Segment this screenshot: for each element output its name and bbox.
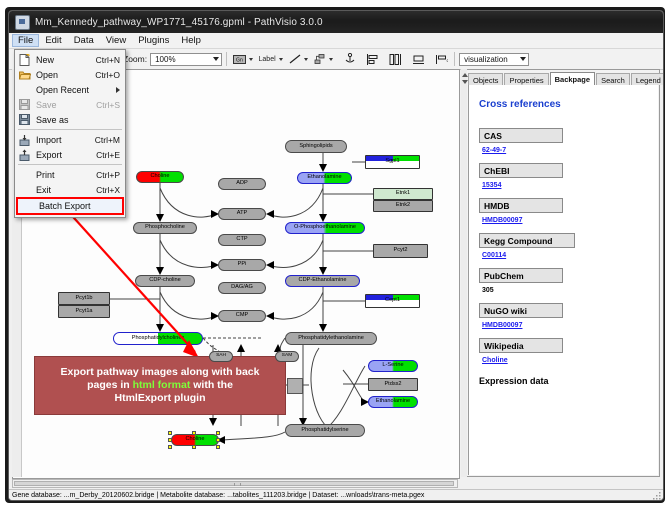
selection-handle-ne[interactable] <box>216 431 220 435</box>
svg-text:o: o <box>447 58 449 63</box>
align-middle-icon[interactable] <box>411 52 426 66</box>
node-phosphatidylserine[interactable]: Phosphatidylserine <box>285 424 365 437</box>
status-text: Gene database: ...m_Derby_20120602.bridg… <box>9 492 424 499</box>
node-sgpl1[interactable]: Sgpl1 <box>365 155 420 169</box>
node-pcyt1b[interactable]: Pcyt1b <box>58 292 110 305</box>
selection-handle-sw[interactable] <box>168 445 172 449</box>
new-file-icon <box>17 53 32 66</box>
app-icon <box>15 15 30 30</box>
label-chevron-icon[interactable] <box>279 58 283 61</box>
selection-handle-se[interactable] <box>216 445 220 449</box>
folder-open-icon <box>17 68 32 81</box>
node-cept1[interactable]: Cept1 <box>365 294 420 308</box>
side-panel-tabs: Objects Properties Backpage Search Legen… <box>468 71 658 86</box>
xref-cas: CAS 62-49-7 <box>479 128 658 154</box>
tab-search[interactable]: Search <box>596 73 630 85</box>
pathway-anchor-block[interactable] <box>287 378 303 394</box>
xref-nugo-label: NuGO wiki <box>479 303 563 318</box>
file-dropdown-menu[interactable]: New Ctrl+N Open Ctrl+O Open Recent Save <box>14 49 126 218</box>
visualization-combo[interactable]: visualization <box>459 53 529 66</box>
node-sah[interactable]: SAH <box>209 351 233 362</box>
submenu-arrow-icon <box>116 87 120 93</box>
xref-wikipedia-value[interactable]: Choline <box>482 357 658 364</box>
xref-cas-value[interactable]: 62-49-7 <box>482 147 658 154</box>
blank-icon-3 <box>17 183 32 196</box>
tab-backpage[interactable]: Backpage <box>550 72 595 85</box>
selection-handle-w[interactable] <box>168 438 172 442</box>
menu-separator-2 <box>18 164 122 165</box>
save-icon <box>17 98 32 111</box>
selection-handle-e[interactable] <box>216 438 220 442</box>
cross-references-title: Cross references <box>479 99 658 110</box>
zoom-combo[interactable]: 100% <box>150 53 222 66</box>
annotation-callout: Export pathway images along with back pa… <box>34 356 286 415</box>
node-ppi[interactable]: PPi <box>218 259 266 271</box>
canvas-horizontal-scrollbar[interactable] <box>12 479 458 488</box>
menu-item-save-as[interactable]: Save as <box>15 112 125 127</box>
align-center-icon[interactable] <box>388 52 403 66</box>
menu-item-exit[interactable]: Exit Ctrl+X <box>15 182 125 197</box>
side-panel-splitter[interactable] <box>461 69 467 477</box>
menu-item-batch-export-highlight: Batch Export <box>16 197 124 215</box>
menu-plugins[interactable]: Plugins <box>132 34 175 47</box>
selection-handle-n[interactable] <box>192 431 196 435</box>
node-phosphatidylethanolamine[interactable]: Phosphatidylethanolamine <box>285 332 377 345</box>
node-cdp-choline[interactable]: CDP-choline <box>135 275 195 287</box>
menu-data[interactable]: Data <box>68 34 100 47</box>
xref-kegg: Kegg Compound C00114 <box>479 233 658 259</box>
xref-nugo-value[interactable]: HMDB00097 <box>482 322 658 329</box>
zoom-label: Zoom: <box>123 54 147 64</box>
node-pcyt1a[interactable]: Pcyt1a <box>58 305 110 318</box>
node-pcyt2[interactable]: Pcyt2 <box>373 244 428 258</box>
interaction-icon[interactable] <box>312 52 327 66</box>
blank-icon-2 <box>17 168 32 181</box>
blank-icon <box>17 83 32 96</box>
import-icon <box>17 133 32 146</box>
callout-line-2-after: with the <box>190 379 233 391</box>
zoom-value: 100% <box>155 55 175 64</box>
menu-file[interactable]: File <box>12 34 39 47</box>
node-sphingolipids[interactable]: Sphingolipids <box>285 140 347 153</box>
xref-wikipedia-label: Wikipedia <box>479 338 563 353</box>
callout-line-1: Export pathway images along with back <box>61 366 260 379</box>
xref-chebi-value[interactable]: 15354 <box>482 182 658 189</box>
pathvisio-window: Mm_Kennedy_pathway_WP1771_45176.gpml - P… <box>8 10 664 501</box>
toolbar-separator <box>226 52 227 66</box>
screenshot-root: Mm_Kennedy_pathway_WP1771_45176.gpml - P… <box>0 0 670 509</box>
menu-help[interactable]: Help <box>175 34 207 47</box>
node-ethanolamine-bottom[interactable]: Ethanolamine <box>368 396 418 408</box>
xref-hmdb-value[interactable]: HMDB00097 <box>482 217 658 224</box>
line-chevron-icon[interactable] <box>304 58 308 61</box>
xref-pubchem-label: PubChem <box>479 268 563 283</box>
xref-pubchem: PubChem 305 <box>479 268 658 294</box>
status-bar: Gene database: ...m_Derby_20120602.bridg… <box>9 489 663 501</box>
xref-kegg-value[interactable]: C00114 <box>482 252 658 259</box>
menu-item-open[interactable]: Open Ctrl+O <box>15 67 125 82</box>
label-button-text: Label <box>259 56 276 63</box>
selection-handle-nw[interactable] <box>168 431 172 435</box>
node-sam[interactable]: SAM <box>275 351 299 362</box>
xref-cas-label: CAS <box>479 128 563 143</box>
xref-wikipedia: Wikipedia Choline <box>479 338 658 364</box>
window-title: Mm_Kennedy_pathway_WP1771_45176.gpml - P… <box>35 17 323 28</box>
callout-line-2-before: pages in <box>87 379 133 391</box>
xref-hmdb-label: HMDB <box>479 198 563 213</box>
menu-item-export[interactable]: Export Ctrl+E <box>15 147 125 162</box>
xref-chebi: ChEBI 15354 <box>479 163 658 189</box>
node-o-phosphoethanolamine[interactable]: O-Phosphoethanolamine <box>285 222 365 234</box>
menu-item-print[interactable]: Print Ctrl+P <box>15 167 125 182</box>
callout-highlight: html format <box>133 379 191 391</box>
svg-text:Gn: Gn <box>236 57 243 63</box>
xref-chebi-label: ChEBI <box>479 163 563 178</box>
node-choline-top[interactable]: Choline <box>136 171 184 183</box>
node-l-serine[interactable]: L-Serine <box>368 360 418 372</box>
blank-icon-4 <box>20 200 35 213</box>
menu-view[interactable]: View <box>100 34 132 47</box>
node-dag-ag[interactable]: DAG/AG <box>218 282 266 294</box>
menu-separator-1 <box>18 129 122 130</box>
xref-pubchem-value: 305 <box>482 287 658 294</box>
menu-item-batch-export[interactable]: Batch Export <box>18 199 122 213</box>
menu-item-save: Save Ctrl+S <box>15 97 125 112</box>
datanode-icon[interactable]: Gn <box>232 52 247 66</box>
node-adp[interactable]: ADP <box>218 178 266 190</box>
node-cdp-ethanolamine[interactable]: CDP-Ethanolamine <box>285 275 360 287</box>
expression-data-title: Expression data <box>479 376 658 386</box>
xref-hmdb: HMDB HMDB00097 <box>479 198 658 224</box>
resize-grip-icon[interactable] <box>653 492 661 500</box>
tab-legend[interactable]: Legend <box>631 73 664 85</box>
tab-objects[interactable]: Objects <box>468 73 503 85</box>
datanode-chevron-icon[interactable] <box>249 58 253 61</box>
xref-kegg-label: Kegg Compound <box>479 233 575 248</box>
callout-line-3: HtmlExport plugin <box>115 392 206 405</box>
node-ethanolamine-top[interactable]: Ethanolamine <box>297 172 352 184</box>
node-etnk2[interactable]: Etnk2 <box>373 200 433 212</box>
menu-item-open-recent[interactable]: Open Recent <box>15 82 125 97</box>
node-phosphocholine[interactable]: Phosphocholine <box>133 222 197 234</box>
visualization-chevron-icon <box>520 57 526 61</box>
menu-item-new[interactable]: New Ctrl+N <box>15 52 125 67</box>
anchor-icon[interactable] <box>342 52 357 66</box>
toolbar-separator-2 <box>454 52 455 66</box>
side-panel: Objects Properties Backpage Search Legen… <box>461 69 660 477</box>
node-phosphatidylcholines[interactable]: Phosphatidylcholines <box>113 332 203 345</box>
node-ptdss2[interactable]: Ptdss2 <box>368 378 418 391</box>
node-ctp[interactable]: CTP <box>218 234 266 246</box>
align-left-icon[interactable] <box>365 52 380 66</box>
visualization-value: visualization <box>464 55 508 64</box>
title-bar: Mm_Kennedy_pathway_WP1771_45176.gpml - P… <box>9 11 663 34</box>
menu-item-import[interactable]: Import Ctrl+M <box>15 132 125 147</box>
backpage-content: Cross references CAS 62-49-7 ChEBI 15354… <box>468 85 658 475</box>
menu-edit[interactable]: Edit <box>39 34 67 47</box>
xref-nugo: NuGO wiki HMDB00097 <box>479 303 658 329</box>
scrollbar-thumb[interactable] <box>14 481 454 486</box>
node-atp[interactable]: ATP <box>218 208 266 220</box>
selection-handle-s[interactable] <box>192 445 196 449</box>
label-icon[interactable]: Label <box>257 52 277 66</box>
save-as-icon <box>17 113 32 126</box>
interaction-chevron-icon[interactable] <box>329 58 333 61</box>
stack-icon[interactable]: o <box>434 52 449 66</box>
tab-properties[interactable]: Properties <box>504 73 548 85</box>
export-icon <box>17 148 32 161</box>
menu-bar: File Edit Data View Plugins Help <box>9 33 663 49</box>
chevron-down-icon <box>213 57 219 61</box>
line-icon[interactable] <box>287 52 302 66</box>
callout-line-2: pages in html format with the <box>87 379 233 392</box>
node-etnk1[interactable]: Etnk1 <box>373 188 433 200</box>
node-cmp[interactable]: CMP <box>218 310 266 322</box>
